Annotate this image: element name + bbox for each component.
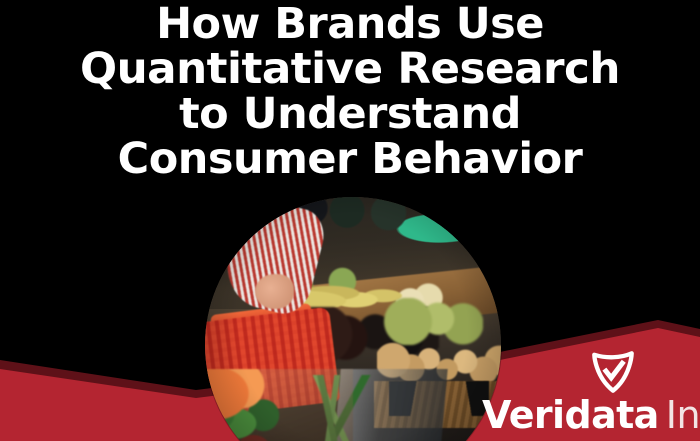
brand-wordmark: VeridataInsigh — [482, 396, 700, 434]
brand-name-secondary: Insigh — [666, 393, 700, 437]
brand-logo[interactable]: VeridataInsigh — [482, 349, 700, 433]
hero-photo — [205, 197, 501, 441]
grocery-scene — [205, 197, 501, 441]
photo-layer-vignette — [205, 197, 501, 441]
shield-check-icon — [590, 349, 636, 395]
poster-canvas: How Brands Use Quantitative Research to … — [0, 0, 700, 441]
brand-name-primary: Veridata — [482, 393, 659, 437]
